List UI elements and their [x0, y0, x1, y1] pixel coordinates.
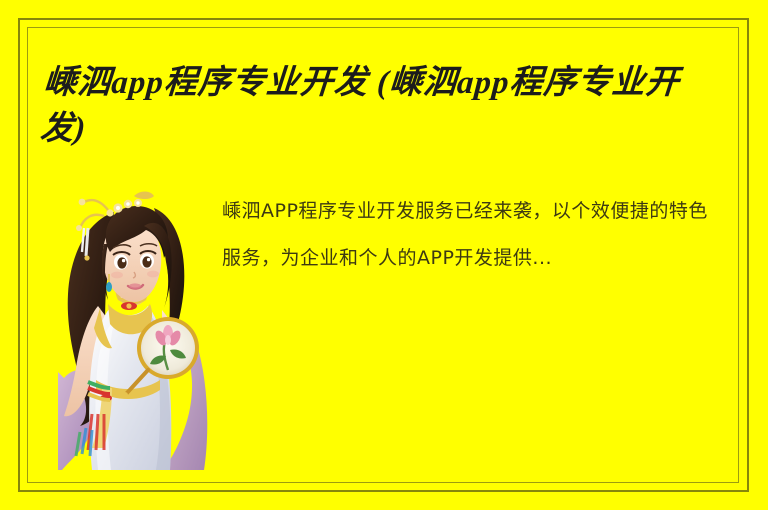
article-thumbnail[interactable] [58, 182, 210, 470]
article-title[interactable]: 嵊泗app程序专业开发 (嵊泗app程序专业开发) [39, 60, 705, 152]
article-summary: 嵊泗APP程序专业开发服务已经来袭，以个效便捷的特色服务，为企业和个人的APP开… [222, 188, 710, 282]
article-card: 嵊泗app程序专业开发 (嵊泗app程序专业开发) [0, 0, 768, 510]
qipao-girl-illustration-icon [58, 182, 210, 470]
article-body: 嵊泗APP程序专业开发服务已经来袭，以个效便捷的特色服务，为企业和个人的APP开… [58, 182, 718, 472]
